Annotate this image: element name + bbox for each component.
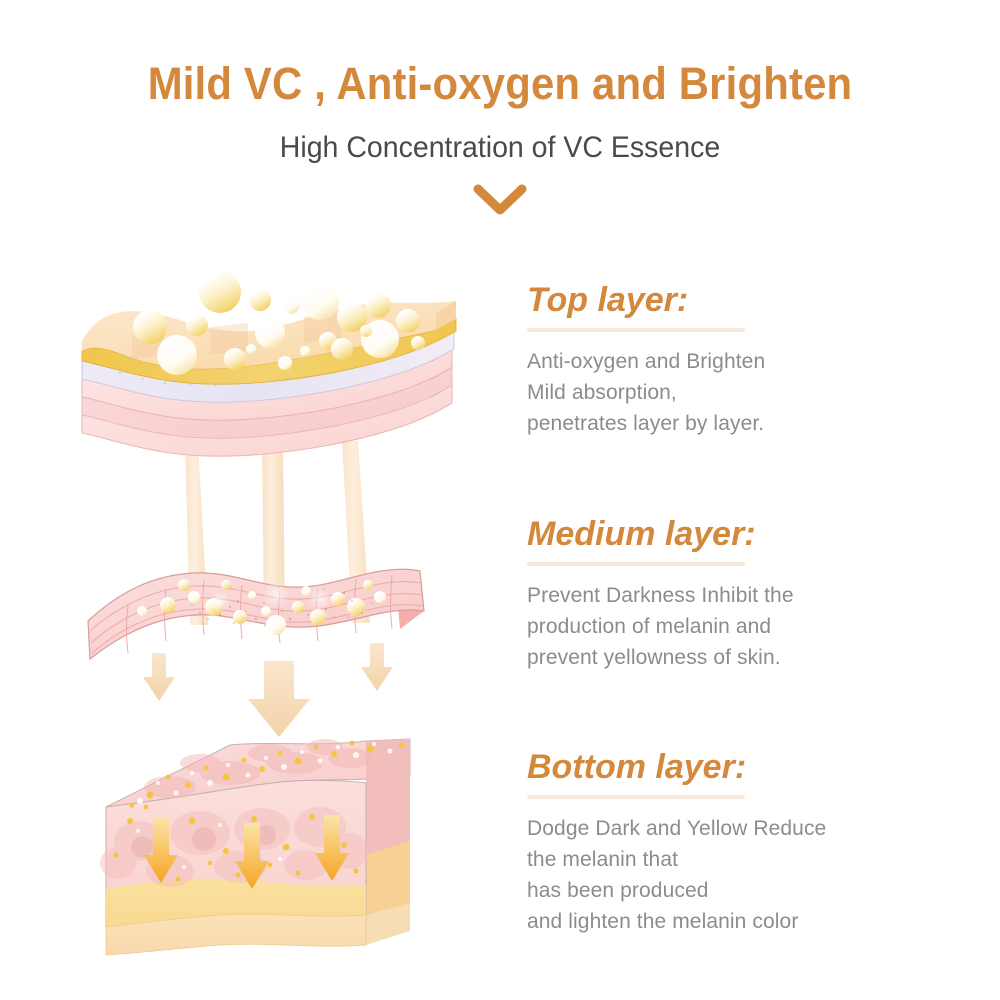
layer-rule-bottom	[527, 795, 745, 799]
page-subtitle: High Concentration of VC Essence	[25, 131, 975, 165]
bottom-skin-block	[100, 739, 410, 955]
page-title: Mild VC , Anti-oxygen and Brighten	[35, 58, 965, 110]
skin-layer-penetration-diagram	[80, 255, 510, 965]
layer-heading-bottom: Bottom layer:	[527, 750, 927, 786]
layer-heading-top: Top layer:	[527, 283, 927, 319]
downward-arrows-middle	[143, 643, 393, 737]
layer-block-medium: Medium layer: Prevent Darkness Inhibit t…	[527, 517, 927, 673]
layer-body-bottom: Dodge Dark and Yellow Reduce the melanin…	[527, 813, 927, 937]
infographic-page: Mild VC , Anti-oxygen and Brighten High …	[0, 0, 1000, 1000]
layer-heading-medium: Medium layer:	[527, 517, 927, 553]
layer-rule-medium	[527, 562, 745, 566]
layer-body-medium: Prevent Darkness Inhibit the production …	[527, 580, 927, 673]
layer-body-top: Anti-oxygen and Brighten Mild absorption…	[527, 346, 927, 439]
layer-rule-top	[527, 328, 745, 332]
layer-block-top: Top layer: Anti-oxygen and Brighten Mild…	[527, 283, 927, 439]
chevron-down-icon	[472, 183, 528, 217]
layer-block-bottom: Bottom layer: Dodge Dark and Yellow Redu…	[527, 750, 927, 937]
